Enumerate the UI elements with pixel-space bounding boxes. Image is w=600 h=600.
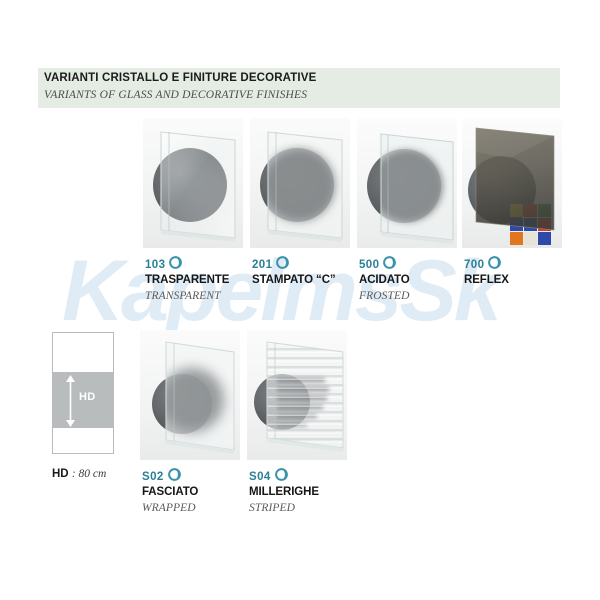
double-arrow-icon [65,375,76,432]
sample-name-it-103: TRASPARENTE [145,274,229,286]
sample-photo-reflex [462,118,562,248]
glass-swatch-icon [276,256,289,274]
sample-code-700: 700 [464,259,484,271]
hd-caption-label: HD [52,468,69,480]
sample-code-row-S02: S02 [142,468,181,486]
page-title: VARIANTI CRISTALLO E FINITURE DECORATIVE [44,72,316,84]
sample-name-it-700: REFLEX [464,274,509,286]
sample-code-row-201: 201 [252,256,289,274]
sample-photo-striped [247,330,347,460]
sample-photo-wrapped [140,330,240,460]
sample-name-it-500: ACIDATO [359,274,410,286]
page-subtitle: VARIANTS OF GLASS AND DECORATIVE FINISHE… [44,89,307,101]
sample-code-201: 201 [252,259,272,271]
sample-code-103: 103 [145,259,165,271]
glass-swatch-icon [169,256,182,274]
sample-photo-printed-c [250,118,350,248]
sample-code-S02: S02 [142,471,164,483]
sample-name-en-500: FROSTED [359,290,410,302]
glass-swatch-icon [168,468,181,486]
sample-code-row-500: 500 [359,256,396,274]
sample-code-row-700: 700 [464,256,501,274]
sample-photo-frosted [357,118,457,248]
glass-swatch-icon [383,256,396,274]
glass-swatch-icon [488,256,501,274]
glass-swatch-icon [275,468,288,486]
sample-name-it-201: STAMPATO “C” [252,274,336,286]
sample-code-S04: S04 [249,471,271,483]
hd-dimension-diagram: HD [52,332,114,454]
sample-code-500: 500 [359,259,379,271]
sample-name-en-S02: WRAPPED [142,502,196,514]
hd-caption: HD : 80 cm [52,468,106,480]
sample-code-row-103: 103 [145,256,182,274]
hd-caption-value: : 80 cm [72,468,107,480]
sample-name-it-S04: MILLERIGHE [249,486,319,498]
sample-photo-transparent [143,118,243,248]
sample-name-en-S04: STRIPED [249,502,295,514]
hd-band-label: HD [79,391,96,403]
sample-name-en-103: TRANSPARENT [145,290,221,302]
sample-name-it-S02: FASCIATO [142,486,198,498]
sample-code-row-S04: S04 [249,468,288,486]
